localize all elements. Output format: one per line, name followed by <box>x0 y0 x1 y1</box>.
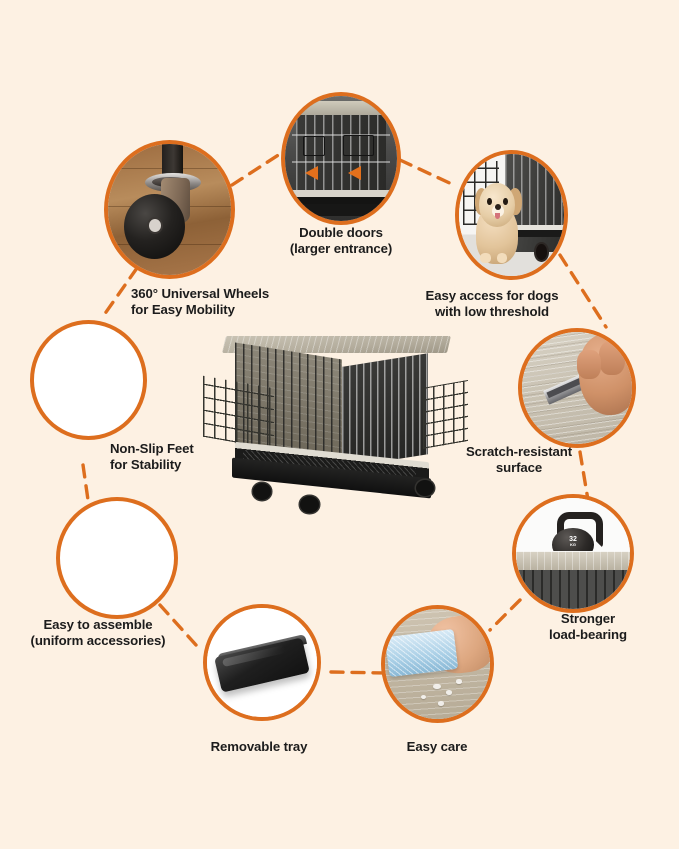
cleaning-cloth-icon <box>385 609 490 719</box>
feature-caption-scratch-resistant: Scratch-resistant surface <box>466 444 572 477</box>
knife-scratch-icon <box>522 332 632 444</box>
blank-circle-icon <box>60 501 174 615</box>
crate-caster-front-left <box>253 483 271 500</box>
crate-caster-rear-right <box>416 480 434 497</box>
connector-wheels-doors <box>232 152 283 185</box>
crate-right-door <box>423 380 468 449</box>
feature-bubble-double-doors[interactable] <box>281 92 401 225</box>
product-image <box>206 336 468 520</box>
feature-bubble-low-threshold[interactable] <box>455 150 568 280</box>
crate-right-bars <box>342 353 428 468</box>
tray-icon <box>207 608 317 717</box>
kettlebell-unit: KG <box>552 543 593 547</box>
feature-caption-wheels: 360° Universal Wheels for Easy Mobility <box>131 286 269 319</box>
feature-caption-load-bearing: Stronger load-bearing <box>549 611 627 644</box>
feature-bubble-load-bearing[interactable]: 32 KG <box>512 494 634 613</box>
blank-circle-icon <box>34 324 143 436</box>
connector-doors-threshold <box>400 160 456 186</box>
feature-caption-easy-care: Easy care <box>407 739 468 755</box>
feature-bubble-easy-assemble[interactable] <box>56 497 178 619</box>
double-doors-icon <box>285 96 397 221</box>
feature-bubble-easy-care[interactable] <box>381 605 494 723</box>
feature-caption-low-threshold: Easy access for dogs with low threshold <box>426 288 559 321</box>
connector-scratch-load <box>580 452 588 500</box>
feature-bubble-scratch-resistant[interactable] <box>518 328 636 448</box>
feature-caption-easy-assemble: Easy to assemble (uniform accessories) <box>31 617 166 650</box>
feature-caption-non-slip-feet: Non-Slip Feet for Stability <box>110 441 194 474</box>
crate-caster-front-right <box>300 496 318 513</box>
crate-left-door <box>203 376 274 449</box>
feature-bubble-removable-tray[interactable] <box>203 604 321 721</box>
feature-bubble-wheels[interactable] <box>104 140 235 279</box>
puppy-icon <box>459 154 564 276</box>
connector-assemble-feet <box>83 465 88 500</box>
caster-wheel-icon <box>108 144 231 275</box>
feature-bubble-non-slip-feet[interactable] <box>30 320 147 440</box>
connector-threshold-scratch <box>560 255 606 327</box>
connector-care-tray <box>331 672 385 673</box>
kettlebell-icon: 32 KG <box>516 498 630 609</box>
feature-caption-removable-tray: Removable tray <box>211 739 308 755</box>
feature-caption-double-doors: Double doors (larger entrance) <box>290 225 392 258</box>
infographic-canvas: 360° Universal Wheels for Easy Mobility … <box>0 0 679 849</box>
